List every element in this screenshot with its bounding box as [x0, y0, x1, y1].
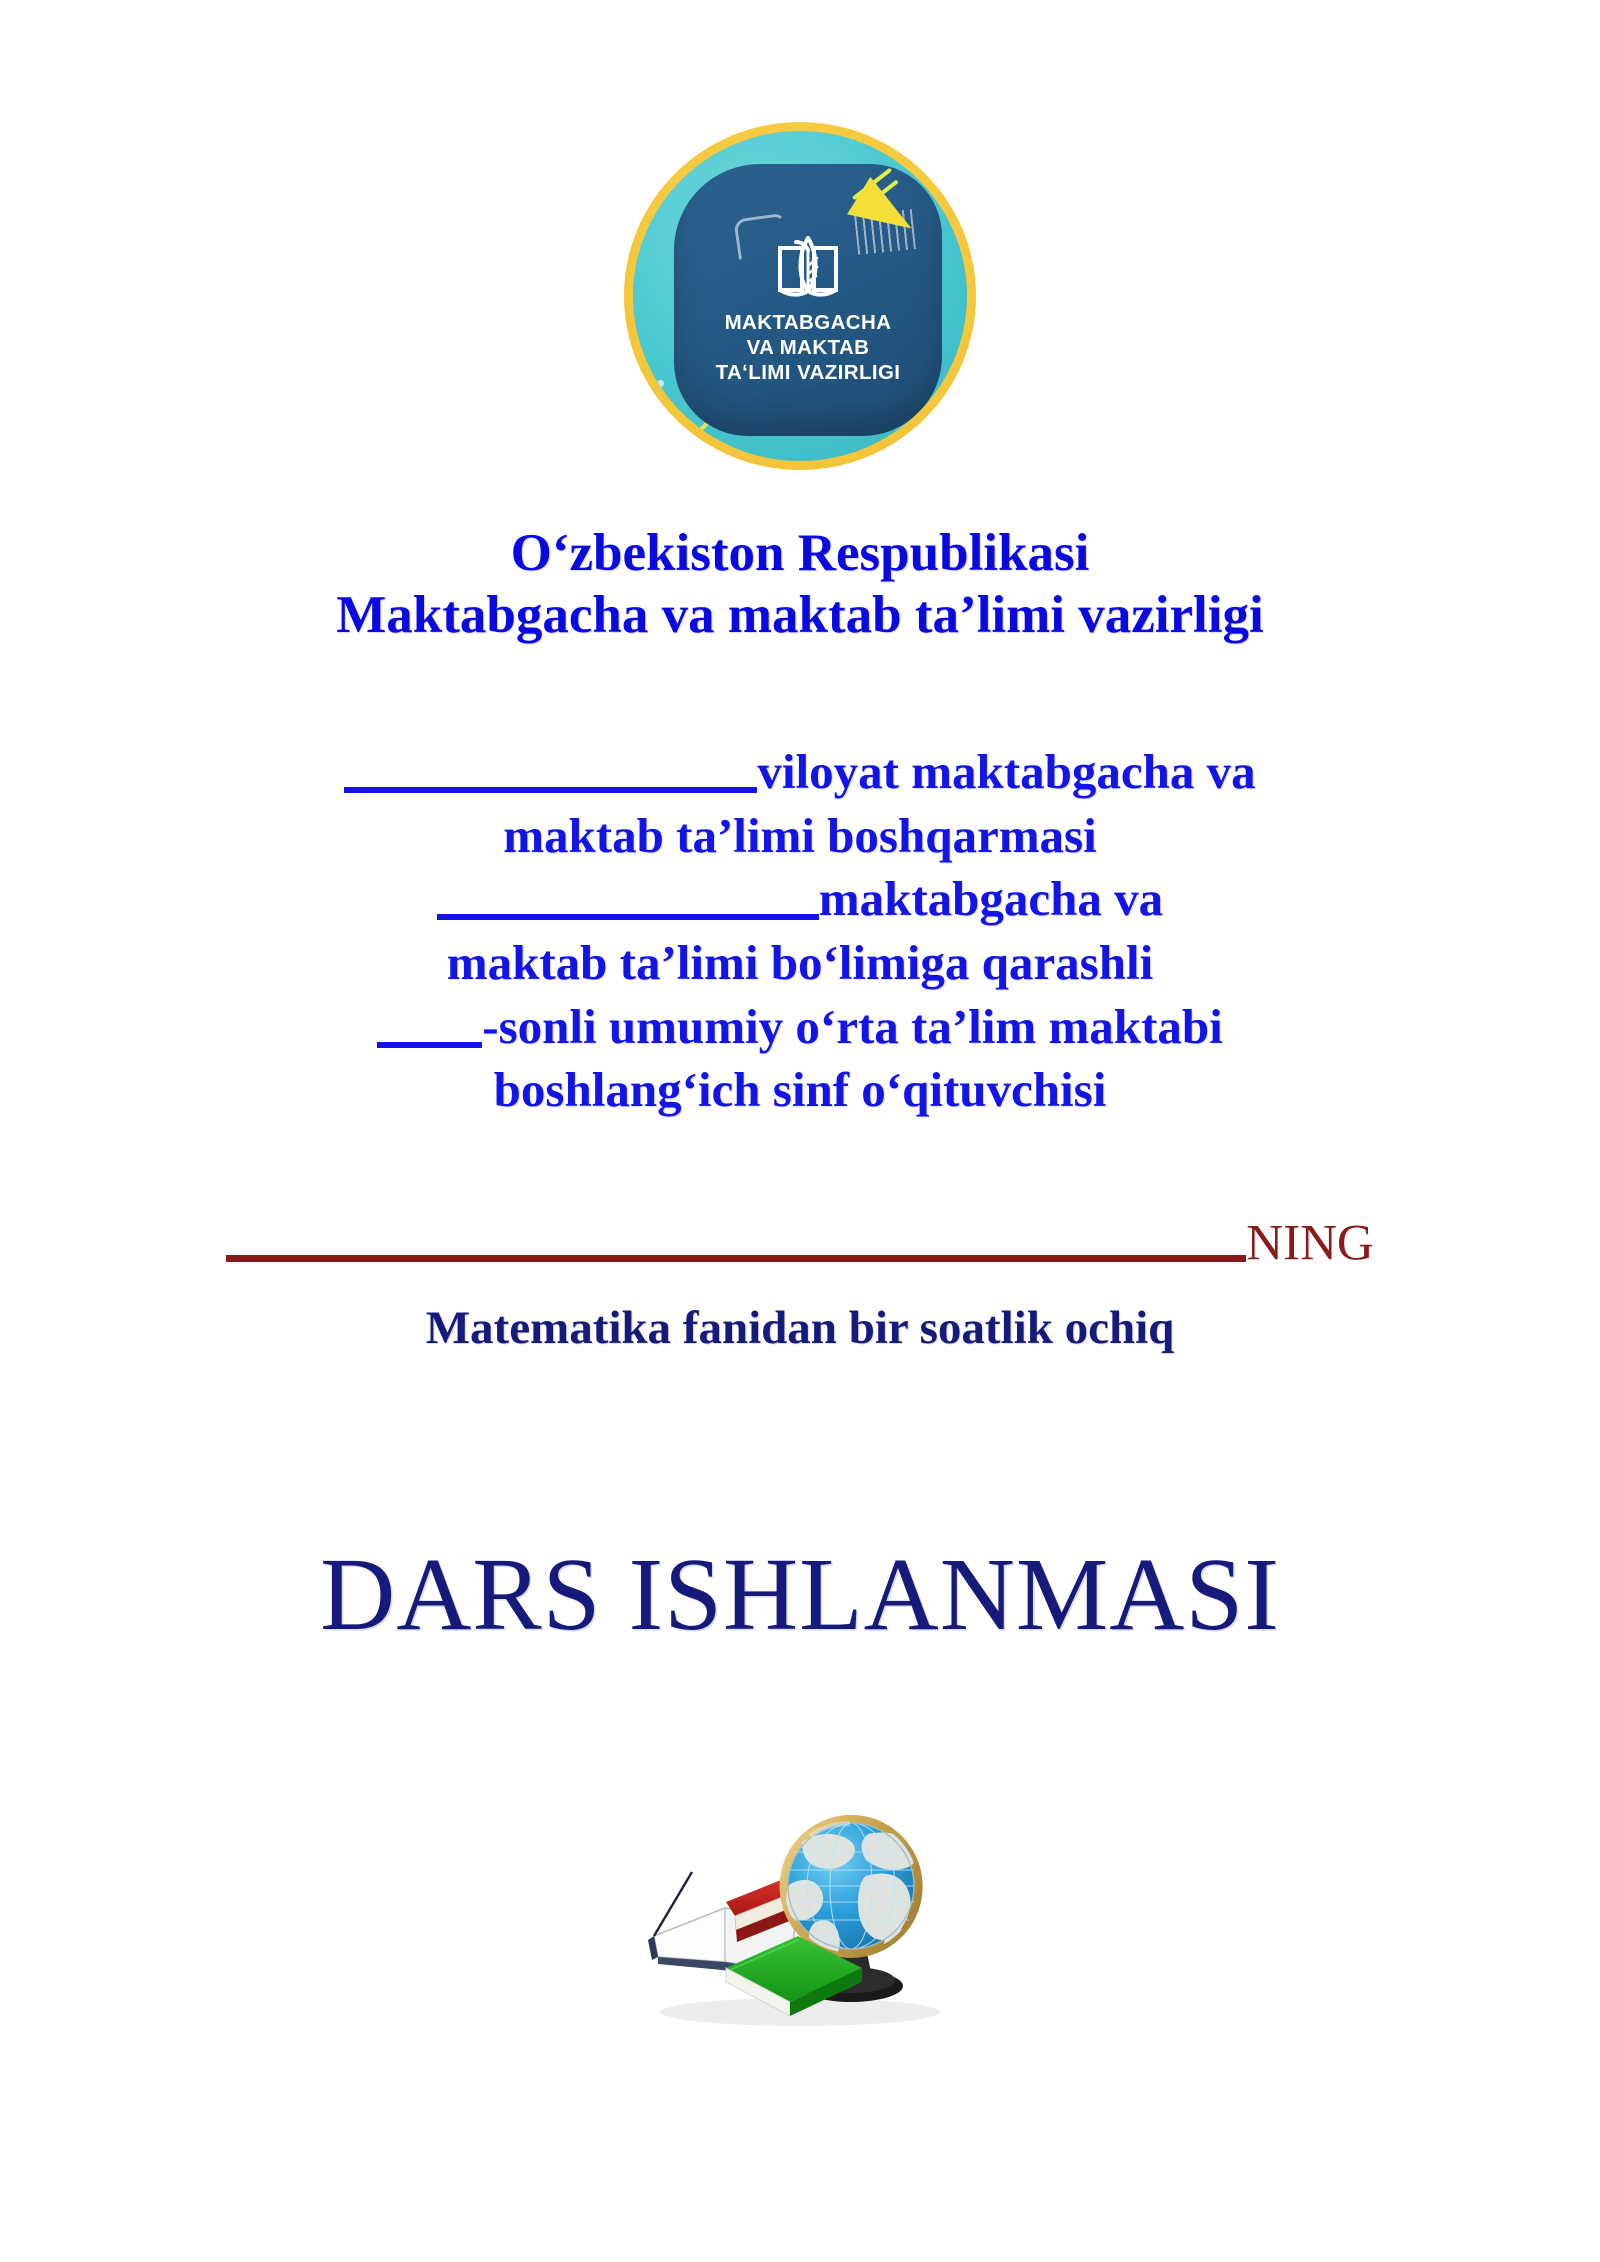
school-number-blank-field[interactable] — [377, 1000, 482, 1048]
address-line-6: boshlangʻich sinf oʻqituvchisi — [0, 1058, 1600, 1122]
logo-text-line-3: TAʻLIMI VAZIRLIGI — [674, 360, 942, 385]
document-page: MAKTABGACHA VA MAKTAB TAʻLIMI VAZIRLIGI … — [0, 0, 1600, 2262]
decorative-dot — [699, 437, 705, 443]
address-line-5-text: -sonli umumiy oʻrta ta’lim maktabi — [482, 999, 1222, 1054]
ning-suffix-label: NING — [1246, 1215, 1373, 1271]
address-line-1: viloyat maktabgacha va — [0, 740, 1600, 804]
page-title: DARS ISHLANMASI — [0, 1538, 1600, 1652]
region-blank-field[interactable] — [344, 745, 757, 793]
address-line-3: maktabgacha va — [0, 867, 1600, 931]
address-block: viloyat maktabgacha va maktab ta’limi bo… — [0, 740, 1600, 1122]
logo-text-line-2: VA MAKTAB — [674, 335, 942, 360]
address-line-5: -sonli umumiy oʻrta ta’lim maktabi — [0, 995, 1600, 1059]
logo-core-panel: MAKTABGACHA VA MAKTAB TAʻLIMI VAZIRLIGI — [674, 164, 942, 436]
district-blank-field[interactable] — [437, 873, 819, 921]
address-line-2: maktab ta’limi boshqarmasi — [0, 804, 1600, 868]
logo-text-block: MAKTABGACHA VA MAKTAB TAʻLIMI VAZIRLIGI — [674, 310, 942, 385]
ministry-heading-line-1: Oʻzbekiston Respublikasi — [0, 522, 1600, 584]
address-line-3-text: maktabgacha va — [819, 871, 1163, 926]
address-line-1-text: viloyat maktabgacha va — [757, 744, 1255, 799]
decorative-dot — [657, 380, 664, 387]
ministry-heading: Oʻzbekiston Respublikasi Maktabgacha va … — [0, 522, 1600, 646]
teacher-name-row: NING — [0, 1212, 1600, 1271]
teacher-name-blank-field[interactable] — [226, 1212, 1246, 1262]
subject-line: Matematika fanidan bir soatlik ochiq — [0, 1300, 1600, 1356]
ministry-heading-line-2: Maktabgacha va maktab ta’limi vazirligi — [0, 584, 1600, 646]
logo-mid-ring: MAKTABGACHA VA MAKTAB TAʻLIMI VAZIRLIGI — [633, 131, 967, 461]
address-line-4: maktab ta’limi boʻlimiga qarashli — [0, 931, 1600, 995]
ministry-logo: MAKTABGACHA VA MAKTAB TAʻLIMI VAZIRLIGI — [624, 122, 976, 470]
globe-and-books-illustration — [630, 1790, 970, 2040]
decorative-dot — [651, 398, 656, 403]
open-book-with-leaf-icon — [772, 228, 844, 300]
logo-text-line-1: MAKTABGACHA — [674, 310, 942, 335]
